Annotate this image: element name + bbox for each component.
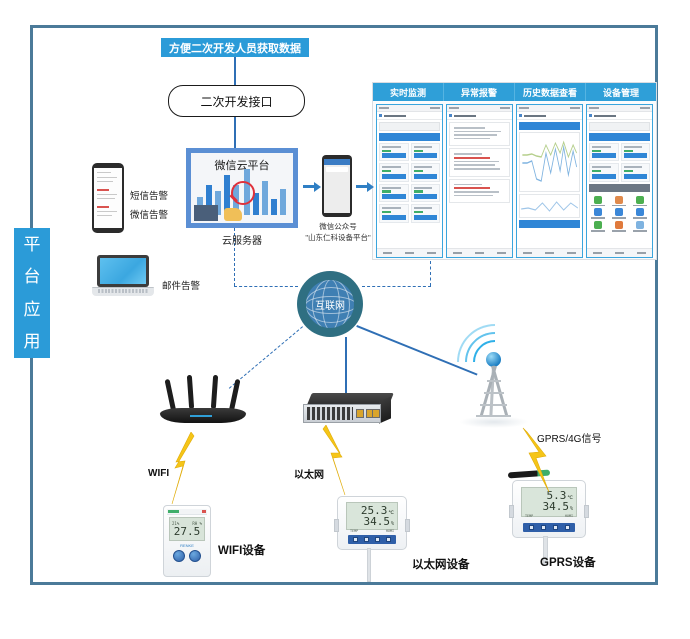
api-box[interactable]: 二次开发接口	[168, 85, 305, 117]
sms-line-3	[97, 181, 113, 182]
gprs-device-buttonpanel[interactable]	[523, 523, 575, 532]
cloud-bar-10	[280, 189, 286, 215]
eth-key-3[interactable]	[375, 537, 380, 542]
gprs-device-label: GPRS设备	[540, 554, 596, 570]
back-icon-4	[589, 114, 592, 117]
card-value	[382, 170, 391, 172]
action-label	[591, 217, 605, 219]
developer-banner: 方便二次开发人员获取数据	[161, 38, 309, 57]
gprs-key-4[interactable]	[565, 525, 570, 530]
tower-xbar-2	[484, 392, 504, 394]
mock-title-3	[524, 115, 546, 117]
mock-selector-3[interactable]	[519, 122, 580, 130]
history-chart-svg	[520, 133, 579, 191]
card-value	[624, 150, 633, 152]
sms-line-7	[97, 215, 112, 216]
action-icon-item[interactable]	[631, 196, 650, 207]
wifi-device-lcd: 21% RH % 27.5	[169, 517, 205, 541]
card-button[interactable]	[592, 174, 616, 179]
device-card[interactable]	[621, 163, 651, 181]
alarm-line	[454, 134, 497, 136]
mock-statusbar-3	[517, 105, 582, 112]
card-button[interactable]	[414, 153, 438, 158]
wechat-caption-line2: "山东仁科设备平台"	[296, 233, 380, 244]
device-card[interactable]	[411, 163, 441, 181]
device-card[interactable]	[589, 163, 619, 181]
card-button[interactable]	[624, 153, 648, 158]
mock-footer-4	[587, 248, 652, 257]
card-line	[592, 166, 611, 168]
alarm-title-3	[454, 184, 482, 186]
card-button[interactable]	[382, 153, 406, 158]
eth-mount-left	[334, 519, 339, 532]
sms-phone-screen	[94, 168, 122, 228]
device-card[interactable]	[379, 163, 409, 181]
device-card[interactable]	[411, 204, 441, 222]
card-line	[382, 207, 401, 209]
card-line	[382, 146, 401, 148]
card-line	[414, 207, 433, 209]
ethernet-switch-icon	[303, 393, 391, 427]
lightblue-icon	[636, 221, 644, 229]
connector-banner-to-api	[234, 57, 236, 85]
footer-item[interactable]	[427, 252, 436, 254]
sms-line-5	[97, 198, 115, 199]
eth-key-1[interactable]	[353, 537, 358, 542]
gprs-mount-left	[509, 505, 514, 518]
mock-device-grid-1	[377, 143, 442, 223]
eth-lcd-humi-row: 34.5 %	[350, 516, 394, 527]
ethernet-device-label: 以太网设备	[412, 556, 470, 572]
sidebar-char-1: 平	[24, 236, 41, 253]
status-icons-4	[640, 107, 650, 109]
tab-device-management[interactable]: 设备管理	[586, 83, 656, 101]
gprs-key-2[interactable]	[541, 525, 546, 530]
laptop-lid	[97, 255, 149, 287]
card-line	[592, 146, 611, 148]
tab-realtime-monitoring[interactable]: 实时监测	[373, 83, 444, 101]
status-icons-3	[570, 107, 580, 109]
tab-abnormal-alarm[interactable]: 异常报警	[444, 83, 515, 101]
dashboard-tabs: 实时监测 异常报警 历史数据查看 设备管理	[373, 83, 656, 101]
card-value	[592, 150, 601, 152]
connector-api-to-cloud	[234, 115, 236, 148]
alarm-card-1[interactable]	[449, 122, 510, 146]
screenshot-realtime-monitoring	[376, 104, 443, 258]
switch-port-bank	[307, 407, 353, 420]
card-value	[382, 190, 391, 192]
arrow-wechat-to-dashboard	[356, 185, 368, 188]
sms-alert-label: 短信告警	[130, 188, 168, 202]
footer-item[interactable]	[567, 252, 576, 254]
mock-device-grid-4	[587, 143, 652, 182]
alarm-line	[454, 138, 490, 140]
ethernet-lightning-bolt	[318, 425, 348, 495]
device-card[interactable]	[379, 204, 409, 222]
wifi-lcd-value: 27.5	[174, 526, 201, 537]
eth-lcd-humidity-unit: %	[391, 522, 394, 527]
alarm-highlight	[454, 157, 490, 159]
router-antenna-3	[211, 375, 218, 409]
eth-lcd-humidity: 34.5	[363, 516, 390, 527]
alarm-title-2	[454, 153, 482, 155]
mock-header-4	[587, 112, 652, 120]
wifi-lightning-bolt	[170, 432, 200, 504]
action-icon-item[interactable]	[610, 221, 629, 232]
wechat-alert-label: 微信告警	[130, 207, 168, 221]
alarm-title-1	[454, 127, 485, 129]
action-icon-item[interactable]	[589, 221, 608, 232]
device-card[interactable]	[411, 184, 441, 202]
switch-face	[303, 404, 381, 423]
laptop-screen	[100, 258, 146, 284]
footer-item[interactable]	[453, 252, 462, 254]
action-label	[633, 230, 647, 232]
card-value	[382, 211, 391, 213]
arrow-cloud-to-wechat	[303, 185, 315, 188]
alarm-body-3	[452, 182, 507, 201]
alarm-line	[454, 195, 493, 197]
mock-title-1	[384, 115, 406, 117]
mock-title-4	[594, 115, 616, 117]
series-line-green	[522, 142, 576, 157]
ethernet-device-buttonpanel[interactable]	[348, 535, 396, 544]
ethernet-device-body: 25.3 ℃ 34.5 % TEMP HUMI	[337, 496, 407, 550]
alarm-body-2	[452, 151, 507, 173]
footer-item[interactable]	[593, 252, 602, 254]
mock-footer-3	[517, 248, 582, 257]
green-icon	[594, 221, 602, 229]
sms-alert-2	[97, 206, 109, 208]
history-minimap-svg	[520, 195, 579, 217]
minimap-line	[521, 202, 578, 211]
gprs-lcd-footer: TEMP HUMI	[525, 514, 573, 518]
wifi-device-led	[202, 510, 206, 513]
sms-line-6	[97, 211, 117, 212]
card-value	[624, 170, 633, 172]
card-button[interactable]	[592, 153, 616, 158]
cloud-bar-8	[262, 181, 268, 215]
sms-alert-1	[97, 189, 109, 191]
alarm-line	[454, 164, 495, 166]
email-alert-label: 邮件告警	[162, 278, 200, 292]
eth-lcd-footer-right: HUMI	[386, 529, 394, 533]
mock-groupbar-1	[379, 133, 440, 141]
alarm-line	[454, 191, 499, 193]
card-line	[414, 146, 433, 148]
device-card[interactable]	[379, 143, 409, 161]
footer-item[interactable]	[497, 252, 506, 254]
switch-rj45-3	[372, 409, 380, 418]
screenshot-history-data	[516, 104, 583, 258]
gprs-key-1[interactable]	[529, 525, 534, 530]
status-icons-2	[500, 107, 510, 109]
ethernet-device: 25.3 ℃ 34.5 % TEMP HUMI	[337, 496, 407, 550]
mock-statusbar-1	[377, 105, 442, 112]
green-icon	[636, 196, 644, 204]
gprs-lcd-footer-left: TEMP	[525, 514, 533, 518]
back-icon-3	[519, 114, 522, 117]
cloud-platform-title: 微信云平台	[191, 157, 293, 173]
card-value	[382, 150, 391, 152]
card-line	[382, 187, 401, 189]
card-button[interactable]	[414, 174, 438, 179]
mock-header-1	[377, 112, 442, 120]
card-line	[382, 166, 401, 168]
alarm-line	[454, 131, 501, 133]
history-minimap[interactable]	[519, 194, 580, 218]
card-line	[414, 166, 433, 168]
cloud-server-caption: 云服务器	[186, 232, 298, 247]
footer-item[interactable]	[637, 252, 646, 254]
action-icon-item[interactable]	[610, 208, 629, 219]
gprs-lcd-humidity: 34.5	[542, 501, 569, 512]
action-icon-item[interactable]	[610, 196, 629, 207]
mock-footer-2	[447, 248, 512, 257]
blue-icon	[615, 208, 623, 216]
card-value	[414, 190, 423, 192]
mock-groupbar-4	[589, 133, 650, 141]
alarm-line	[454, 168, 500, 170]
device-card[interactable]	[379, 184, 409, 202]
card-value	[414, 150, 423, 152]
gprs-connection-label: GPRS/4G信号	[537, 430, 601, 445]
eth-key-4[interactable]	[386, 537, 391, 542]
hand-cursor-icon	[224, 208, 242, 221]
card-button[interactable]	[382, 194, 406, 199]
back-icon-1	[379, 114, 382, 117]
tower-xbar-3	[480, 404, 507, 406]
cloud-platform-screen: 微信云平台	[186, 148, 298, 228]
gprs-lcd-footer-right: HUMI	[565, 514, 573, 518]
action-label	[612, 217, 626, 219]
gprs-key-3[interactable]	[553, 525, 558, 530]
wifi-device: 21% RH % 27.5 RENKE	[163, 505, 211, 577]
wifi-device-label: WIFI设备	[218, 542, 265, 558]
bolt-svg	[170, 432, 200, 504]
mock-export-button-3[interactable]	[519, 220, 580, 228]
alarm-line	[454, 161, 499, 163]
cloud-dark-block	[194, 205, 218, 221]
cloud-screen-inner: 微信云平台	[191, 153, 293, 223]
status-time-4	[589, 107, 599, 109]
card-line	[414, 187, 433, 189]
mock-actionsheet-title	[589, 184, 650, 192]
back-icon-2	[449, 114, 452, 117]
footer-item[interactable]	[523, 252, 532, 254]
wifi-device-button-left[interactable]	[173, 550, 185, 562]
history-chart	[519, 132, 580, 192]
connector-internet-to-dashboard	[362, 286, 431, 287]
footer-item[interactable]	[615, 252, 624, 254]
wechat-titlebar	[324, 159, 350, 165]
screenshot-abnormal-alarm	[446, 104, 513, 258]
eth-lcd-footer: TEMP HUMI	[350, 529, 394, 533]
status-time-2	[449, 107, 459, 109]
internet-globe: 互联网	[297, 271, 363, 337]
router-led-strip	[190, 415, 212, 417]
connector-cloud-to-internet	[234, 286, 298, 287]
wechat-phone-screen	[324, 159, 350, 213]
wechat-phone	[322, 155, 352, 217]
cloud-bar-9	[271, 199, 277, 215]
action-icon-item[interactable]	[589, 208, 608, 219]
device-card[interactable]	[621, 143, 651, 161]
switch-rj45-1	[356, 409, 364, 418]
eth-mount-right	[405, 519, 410, 532]
card-value	[414, 211, 423, 213]
internet-label: 互联网	[315, 297, 345, 312]
sms-phone	[92, 163, 124, 233]
router-antenna-2	[187, 375, 194, 409]
card-button[interactable]	[624, 174, 648, 179]
gprs-lcd-humi-row: 34.5 %	[525, 501, 573, 512]
tower-xbar-4	[476, 415, 511, 417]
orange-icon	[615, 221, 623, 229]
dashboard-screenshots	[373, 101, 656, 261]
mock-header-3	[517, 112, 582, 120]
wifi-device-body: 21% RH % 27.5 RENKE	[163, 505, 211, 577]
ethernet-device-lcd: 25.3 ℃ 34.5 % TEMP HUMI	[346, 502, 398, 530]
alarm-card-3[interactable]	[449, 179, 510, 204]
sidebar-platform-label: 平 台 应 用	[14, 228, 50, 358]
action-label	[591, 230, 605, 232]
tab-history-data[interactable]: 历史数据查看	[515, 83, 586, 101]
mock-title-2	[454, 115, 476, 117]
gprs-lcd-humidity-unit: %	[570, 507, 573, 512]
action-icon-item[interactable]	[631, 221, 650, 232]
sms-line-4	[97, 194, 117, 195]
sidebar-char-4: 用	[24, 333, 41, 350]
wechat-message-bubble	[326, 167, 348, 172]
card-button[interactable]	[414, 194, 438, 199]
connector-dashboard-down	[430, 261, 431, 286]
status-time-1	[379, 107, 389, 109]
eth-key-2[interactable]	[364, 537, 369, 542]
mock-header-2	[447, 112, 512, 120]
sidebar-char-2: 台	[24, 268, 41, 285]
card-button[interactable]	[414, 215, 438, 220]
connector-internet-to-switch	[345, 337, 347, 393]
gprs-mount-right	[584, 505, 589, 518]
wifi-device-button-right[interactable]	[189, 550, 201, 562]
globe-inner: 互联网	[306, 280, 354, 328]
sms-line-1	[97, 172, 111, 173]
card-value	[592, 170, 601, 172]
card-line	[624, 166, 643, 168]
mock-footer-1	[377, 248, 442, 257]
laptop-keyboard	[98, 289, 148, 293]
card-button[interactable]	[382, 215, 406, 220]
wifi-device-logo	[168, 510, 179, 513]
diagram-canvas: 平 台 应 用 方便二次开发人员获取数据 二次开发接口 微信云平台	[0, 0, 690, 639]
footer-item[interactable]	[545, 252, 554, 254]
card-line	[624, 146, 643, 148]
ethernet-connection-label: 以太网	[294, 466, 324, 481]
dashboard-panel: 实时监测 异常报警 历史数据查看 设备管理	[372, 82, 657, 260]
wifi-connection-label: WIFI	[148, 468, 169, 479]
action-label	[633, 205, 647, 207]
footer-item[interactable]	[405, 252, 414, 254]
green-icon	[594, 196, 602, 204]
tower-xbar-1	[487, 380, 501, 382]
action-label	[633, 217, 647, 219]
mock-search-4[interactable]	[589, 122, 650, 131]
status-icons-1	[430, 107, 440, 109]
device-card[interactable]	[411, 143, 441, 161]
cell-tower-icon	[445, 330, 541, 430]
mock-action-icons	[587, 194, 652, 234]
action-label	[612, 205, 626, 207]
footer-item[interactable]	[475, 252, 484, 254]
status-time-3	[519, 107, 529, 109]
action-icon-item[interactable]	[631, 208, 650, 219]
sidebar-char-3: 应	[24, 301, 41, 318]
blue-icon	[594, 208, 602, 216]
eth-lcd-footer-left: TEMP	[350, 529, 358, 533]
wifi-router-icon	[160, 375, 246, 423]
action-icon-item[interactable]	[589, 196, 608, 207]
alarm-card-2[interactable]	[449, 148, 510, 176]
alarm-body-1	[452, 125, 507, 143]
orange-icon	[615, 196, 623, 204]
device-card[interactable]	[589, 143, 619, 161]
screenshot-device-management	[586, 104, 653, 258]
laptop-icon	[92, 255, 154, 297]
sms-line-2	[97, 177, 117, 178]
alarm-highlight	[454, 187, 490, 189]
wechat-caption-line1: 微信公众号	[296, 222, 380, 233]
mock-statusbar-4	[587, 105, 652, 112]
mock-statusbar-2	[447, 105, 512, 112]
ethernet-device-probe	[367, 548, 371, 582]
wechat-account-caption: 微信公众号 "山东仁科设备平台"	[296, 222, 380, 244]
action-label	[612, 230, 626, 232]
action-label	[591, 205, 605, 207]
card-value	[414, 170, 423, 172]
card-button[interactable]	[382, 174, 406, 179]
blue-icon	[636, 208, 644, 216]
bolt-svg	[318, 425, 348, 495]
wifi-device-brand: RENKE	[164, 543, 210, 548]
footer-item[interactable]	[383, 252, 392, 254]
mock-search-1	[379, 122, 440, 131]
